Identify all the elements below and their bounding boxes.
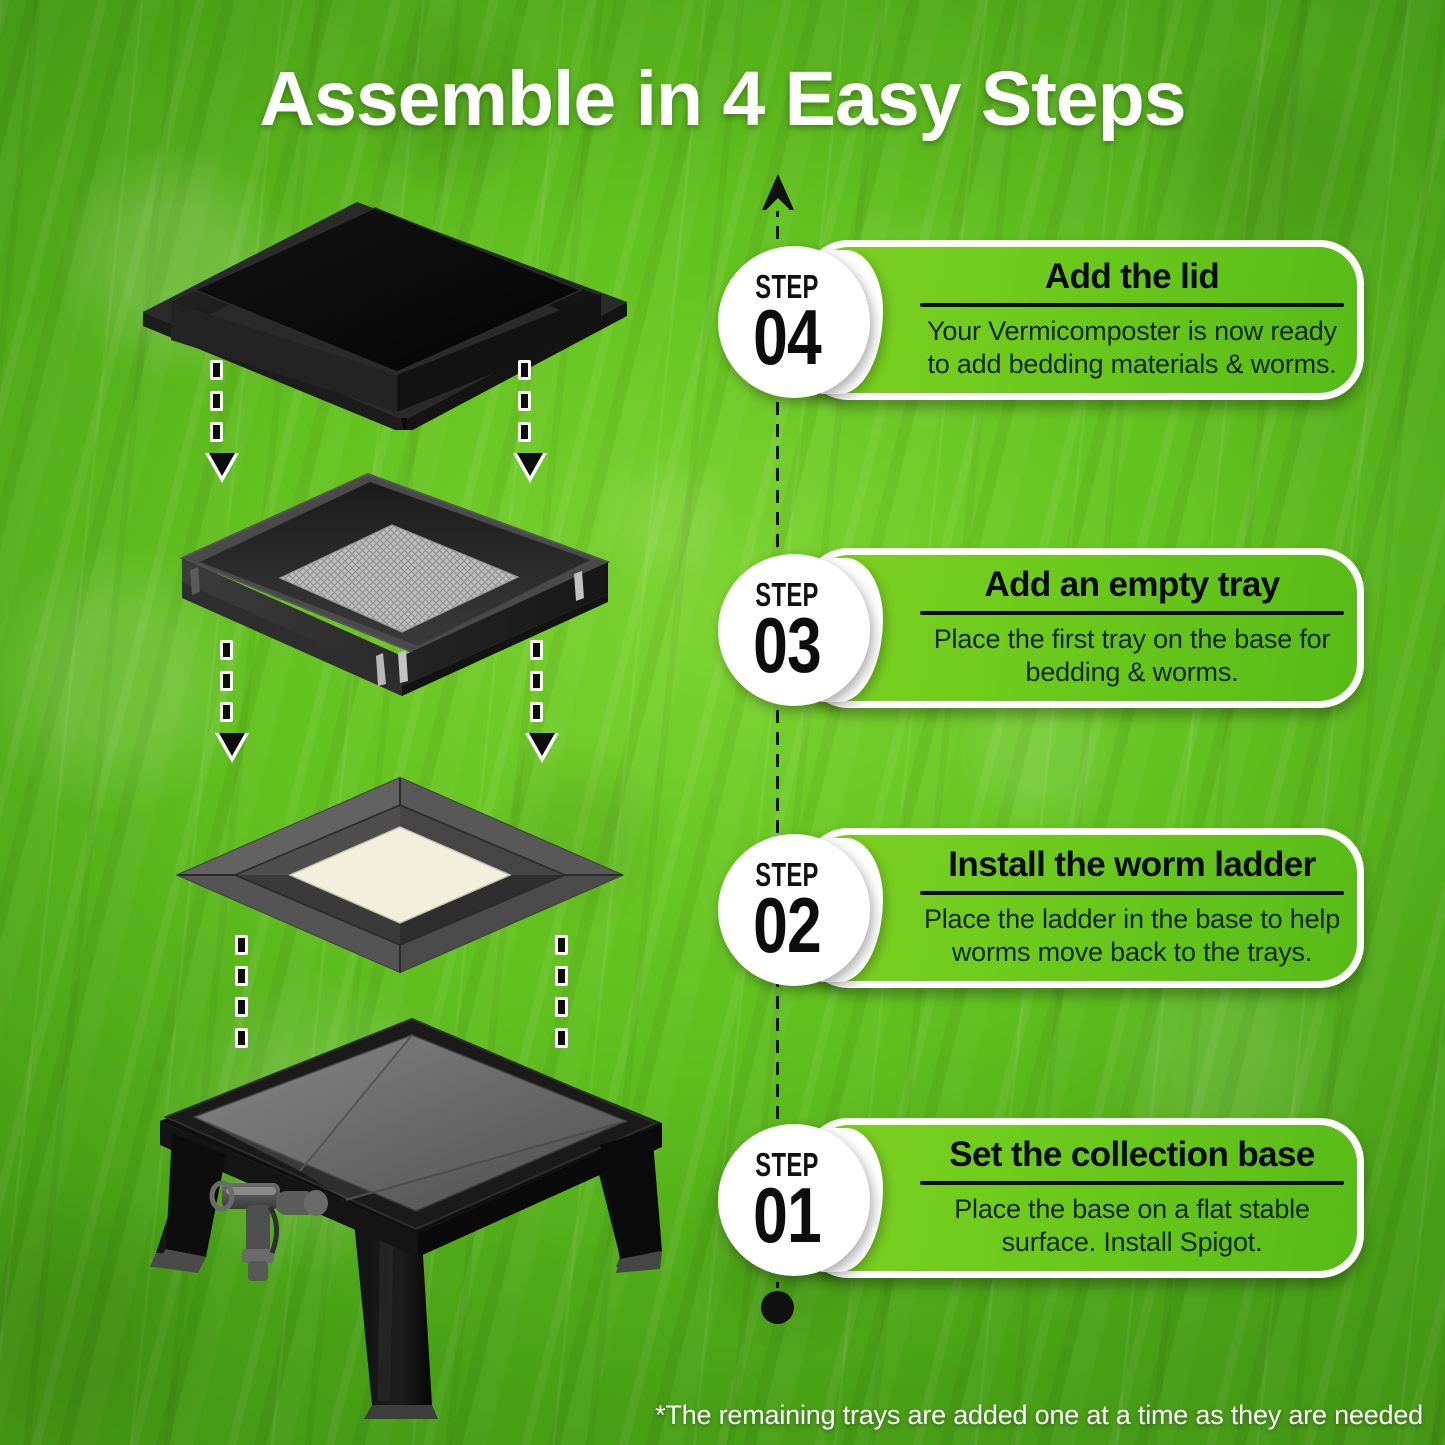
title-divider: [920, 1181, 1344, 1185]
assembly-arrows-tray: [205, 640, 555, 755]
step-title: Add an empty tray: [984, 567, 1279, 604]
page-title: Assemble in 4 Easy Steps: [0, 55, 1445, 144]
step-panel-04: Add the lid Your Vermicomposter is now r…: [804, 240, 1364, 400]
step-badge-02[interactable]: STEP 02: [718, 834, 870, 986]
illustration-collection-base: [150, 1005, 670, 1425]
step-callout-03[interactable]: Add an empty tray Place the first tray o…: [718, 548, 1358, 714]
step-badge-01[interactable]: STEP 01: [718, 1124, 870, 1276]
down-arrow-icon: [525, 640, 547, 763]
step-description: Your Vermicomposter is now ready to add …: [920, 315, 1344, 381]
down-arrow-icon: [205, 360, 227, 483]
step-number: 02: [732, 886, 842, 964]
title-divider: [920, 303, 1344, 307]
step-panel-text: Install the worm ladder Place the ladder…: [920, 828, 1344, 988]
step-description: Place the first tray on the base for bed…: [920, 623, 1344, 689]
step-panel-02: Install the worm ladder Place the ladder…: [804, 828, 1364, 988]
step-panel-text: Add an empty tray Place the first tray o…: [920, 548, 1344, 708]
step-badge-04[interactable]: STEP 04: [718, 246, 870, 398]
title-divider: [920, 611, 1344, 615]
step-title: Set the collection base: [949, 1137, 1314, 1174]
step-title: Install the worm ladder: [948, 847, 1315, 884]
step-number: 01: [732, 1176, 842, 1254]
step-callout-01[interactable]: Set the collection base Place the base o…: [718, 1118, 1358, 1284]
assembly-arrows-lid: [195, 360, 565, 475]
step-panel-01: Set the collection base Place the base o…: [804, 1118, 1364, 1278]
title-divider: [920, 891, 1344, 895]
step-number: 03: [732, 606, 842, 684]
down-arrow-icon: [513, 360, 535, 483]
step-panel-text: Set the collection base Place the base o…: [920, 1118, 1344, 1278]
step-badge-03[interactable]: STEP 03: [718, 554, 870, 706]
step-callout-04[interactable]: Add the lid Your Vermicomposter is now r…: [718, 240, 1358, 406]
step-number: 04: [732, 298, 842, 376]
step-description: Place the ladder in the base to help wor…: [920, 903, 1344, 969]
step-callout-02[interactable]: Install the worm ladder Place the ladder…: [718, 828, 1358, 994]
arrow-up-notch-icon: [765, 198, 791, 211]
footnote: *The remaining trays are added one at a …: [655, 1400, 1423, 1431]
step-panel-03: Add an empty tray Place the first tray o…: [804, 548, 1364, 708]
step-title: Add the lid: [1045, 259, 1219, 296]
dot-icon: [761, 1291, 794, 1324]
step-panel-text: Add the lid Your Vermicomposter is now r…: [920, 240, 1344, 400]
step-description: Place the base on a flat stable surface.…: [920, 1193, 1344, 1259]
down-arrow-icon: [215, 640, 237, 763]
